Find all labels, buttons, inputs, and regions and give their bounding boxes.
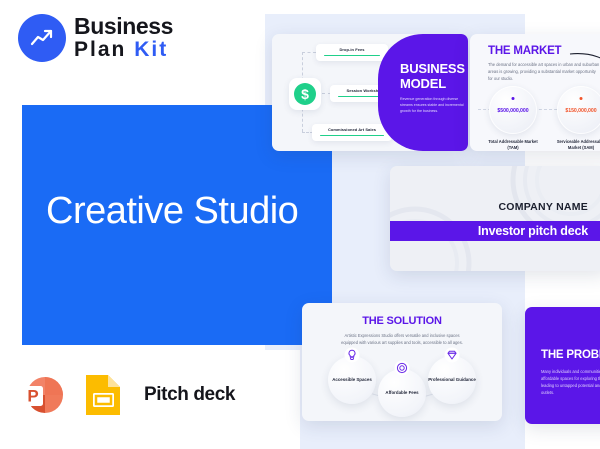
solution-node-label: Affordable Fees (385, 390, 418, 396)
coin-icon (394, 360, 410, 376)
format-label: Pitch deck (144, 384, 235, 406)
powerpoint-icon: P (20, 372, 66, 418)
hero-title: Creative Studio (46, 190, 298, 233)
business-model-item-label: Drop-in Fees (322, 47, 382, 52)
investor-subtitle: Investor pitch deck (478, 224, 588, 238)
slide-the-market[interactable]: THE MARKET The demand for accessible art… (470, 34, 600, 151)
svg-text:P: P (27, 387, 38, 406)
solution-node-label: Professional Guidance (428, 377, 476, 383)
market-stat-caption: Serviceable Addressable Market (SAM) (552, 139, 600, 151)
market-stat-value: $150,000,000 (557, 108, 600, 114)
market-stat: $500,000,000 Total Addressable Market (T… (484, 86, 542, 151)
solution-node: Affordable Fees (378, 369, 426, 417)
trend-arrow-icon (18, 14, 66, 62)
market-stat-value: $500,000,000 (489, 108, 537, 114)
investor-company-name: COMPANY NAME (390, 201, 588, 213)
business-model-title: BUSINESS MODEL (400, 62, 464, 91)
market-stat: $150,000,000 Serviceable Addressable Mar… (552, 86, 600, 151)
problem-title: THE PROBLEM (541, 349, 600, 361)
format-badges: P Pitch deck (20, 372, 235, 418)
solution-node: Professional Guidance (428, 356, 476, 404)
brand-kit: Kit (134, 38, 168, 61)
solution-node-label: Accessible Spaces (332, 377, 372, 383)
market-title: THE MARKET (488, 45, 561, 57)
business-model-item-label: Commissioned Art Sales (318, 127, 386, 132)
market-stat-caption: Total Addressable Market (TAM) (484, 139, 542, 151)
market-body: The demand for accessible art spaces in … (488, 62, 600, 83)
business-model-body: Revenue generation through diverse strea… (400, 97, 464, 115)
solution-body: Artistic Expressions Studio offers versa… (338, 332, 466, 346)
slide-investor-pitch-deck[interactable]: COMPANY NAME Investor pitch deck (390, 166, 600, 271)
slide-business-model[interactable]: $ Drop-in Fees Session Workshops Commiss… (272, 34, 468, 151)
slide-the-problem[interactable]: THE PROBLEM Many individuals and communi… (525, 307, 600, 424)
slide-the-solution[interactable]: THE SOLUTION Artistic Expressions Studio… (302, 303, 502, 421)
business-model-item: Drop-in Fees (316, 44, 388, 61)
solution-title: THE SOLUTION (302, 315, 502, 327)
poster-canvas: Business Plan Kit Creative Studio $ Drop… (0, 0, 600, 449)
background-band-top (265, 0, 600, 14)
brand-line-1: Business (74, 15, 173, 38)
brand-plan: Plan (74, 38, 126, 61)
business-model-item: Commissioned Art Sales (312, 124, 392, 141)
diamond-icon (444, 347, 460, 363)
problem-body: Many individuals and communities lack ac… (541, 369, 600, 397)
solution-node: Accessible Spaces (328, 356, 376, 404)
google-slides-icon (82, 372, 126, 418)
connector-top (302, 52, 316, 53)
dollar-icon: $ (289, 78, 321, 110)
brand-logo: Business Plan Kit (18, 14, 173, 62)
business-model-panel: BUSINESS MODEL Revenue generation throug… (378, 34, 468, 151)
investor-subtitle-band: Investor pitch deck (390, 221, 600, 241)
lightbulb-icon (344, 347, 360, 363)
